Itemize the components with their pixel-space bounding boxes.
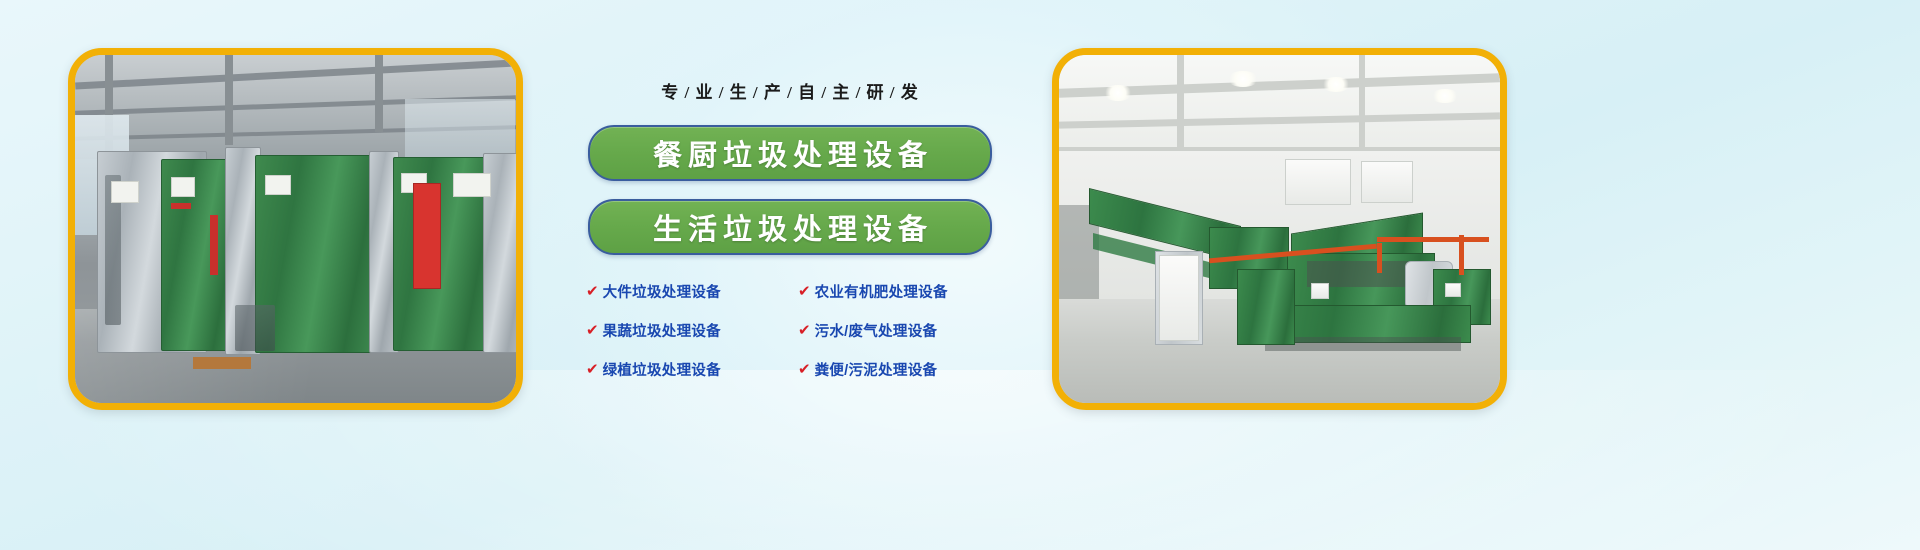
- left-photo-frame[interactable]: [68, 48, 523, 410]
- right-photo: [1059, 55, 1500, 403]
- red-vertical-banner: [413, 183, 441, 289]
- list-item[interactable]: ✔ 绿植垃圾处理设备: [586, 359, 788, 380]
- safety-rail: [1377, 237, 1489, 242]
- equipment-label: [265, 175, 291, 195]
- ceiling-strut: [1359, 55, 1365, 155]
- check-icon: ✔: [586, 362, 599, 377]
- wall-window: [1361, 161, 1413, 203]
- list-item[interactable]: ✔ 农业有机肥处理设备: [798, 281, 1000, 302]
- list-item-label: 污水/废气处理设备: [815, 320, 938, 341]
- left-photo: [75, 55, 516, 403]
- list-item-label: 绿植垃圾处理设备: [603, 359, 721, 380]
- wall-window: [1285, 159, 1351, 205]
- pill-button-food-waste[interactable]: 餐厨垃圾处理设备: [588, 125, 992, 181]
- right-photo-frame[interactable]: [1052, 48, 1507, 410]
- check-icon: ✔: [586, 284, 599, 299]
- list-item-label: 果蔬垃圾处理设备: [603, 320, 721, 341]
- check-icon: ✔: [586, 323, 599, 338]
- list-item-label: 粪便/污泥处理设备: [815, 359, 938, 380]
- list-item-label: 农业有机肥处理设备: [815, 281, 948, 302]
- list-item[interactable]: ✔ 污水/废气处理设备: [798, 320, 1000, 341]
- center-content: 专 / 业 / 生 / 产 / 自 / 主 / 研 / 发 餐厨垃圾处理设备 生…: [560, 78, 1020, 418]
- list-item[interactable]: ✔ 大件垃圾处理设备: [586, 281, 788, 302]
- equipment-label: [111, 181, 139, 203]
- equipment-label: [453, 173, 491, 197]
- check-icon: ✔: [798, 284, 811, 299]
- equipment-label: [1311, 283, 1329, 299]
- shredder-support: [1237, 269, 1295, 345]
- promo-banner: 专 / 业 / 生 / 产 / 自 / 主 / 研 / 发 餐厨垃圾处理设备 生…: [0, 0, 1920, 550]
- ceiling-strut: [1177, 55, 1184, 163]
- ceiling-light: [1227, 71, 1259, 87]
- ceiling-light: [1321, 77, 1351, 92]
- equipment-label: [1445, 283, 1461, 297]
- roof-column: [375, 55, 383, 132]
- check-icon: ✔: [798, 323, 811, 338]
- ceiling-light: [1431, 89, 1459, 103]
- warning-sticker: [171, 203, 191, 209]
- list-item[interactable]: ✔ 果蔬垃圾处理设备: [586, 320, 788, 341]
- product-bullet-list: ✔ 大件垃圾处理设备 ✔ 农业有机肥处理设备 ✔ 果蔬垃圾处理设备 ✔ 污水/废…: [580, 281, 1000, 380]
- control-panel: [1159, 255, 1199, 341]
- check-icon: ✔: [798, 362, 811, 377]
- list-item[interactable]: ✔ 粪便/污泥处理设备: [798, 359, 1000, 380]
- tagline: 专 / 业 / 生 / 产 / 自 / 主 / 研 / 发: [661, 78, 919, 103]
- list-item-label: 大件垃圾处理设备: [603, 281, 721, 302]
- safety-rail-post: [1377, 243, 1382, 273]
- roof-column: [225, 55, 233, 145]
- warning-strip: [210, 215, 218, 275]
- equipment-label: [171, 177, 195, 197]
- machine-base: [235, 305, 275, 351]
- ceiling-light: [1103, 85, 1133, 101]
- pill-button-municipal-waste[interactable]: 生活垃圾处理设备: [588, 199, 992, 255]
- wood-pallet: [193, 357, 251, 369]
